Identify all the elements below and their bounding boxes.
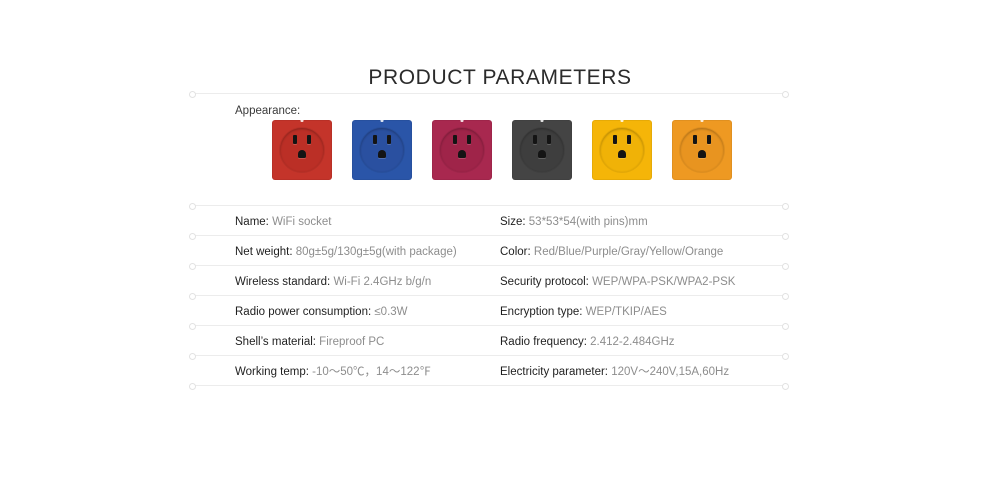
spec-row: Name: WiFi socketSize: 53*53*54(with pin…: [192, 205, 786, 235]
spec-row-divider: [192, 265, 786, 266]
spec-key: Wireless standard:: [235, 276, 330, 288]
spec-cell-right: Size: 53*53*54(with pins)mm: [500, 215, 648, 229]
socket-color-gallery: [272, 120, 732, 180]
socket-swatch-purple: [432, 120, 492, 180]
spec-value: WEP/TKIP/AES: [586, 306, 667, 318]
socket-swatch-blue: [352, 120, 412, 180]
socket-ground-hole: [298, 150, 306, 158]
spec-value: -10～50℃，14～122℉: [312, 366, 431, 378]
socket-slot-left: [533, 135, 537, 144]
socket-slot-left: [373, 135, 377, 144]
spec-row: Shell’s material: Fireproof PCRadio freq…: [192, 325, 786, 355]
spec-value: WiFi socket: [272, 216, 331, 228]
spec-value: 53*53*54(with pins)mm: [529, 216, 648, 228]
spec-value: ≤0.3W: [374, 306, 407, 318]
socket-slot-left: [293, 135, 297, 144]
socket-ground-hole: [618, 150, 626, 158]
spec-cell-left: Working temp: -10～50℃，14～122℉: [235, 365, 431, 379]
spec-value: 2.412-2.484GHz: [590, 336, 674, 348]
spec-row-divider: [192, 205, 786, 206]
socket-slot-right: [627, 135, 631, 144]
spec-row-divider: [192, 325, 786, 326]
socket-slot-right: [547, 135, 551, 144]
led-indicator-icon: [701, 118, 704, 122]
spec-key: Radio frequency:: [500, 336, 587, 348]
spec-cell-right: Encryption type: WEP/TKIP/AES: [500, 305, 667, 319]
socket-ground-hole: [538, 150, 546, 158]
socket-slot-right: [467, 135, 471, 144]
led-indicator-icon: [381, 118, 384, 122]
specifications-table: Name: WiFi socketSize: 53*53*54(with pin…: [192, 205, 786, 385]
spec-key: Shell’s material:: [235, 336, 316, 348]
spec-row-divider: [192, 235, 786, 236]
spec-value: 80g±5g/130g±5g(with package): [296, 246, 457, 258]
spec-cell-right: Security protocol: WEP/WPA-PSK/WPA2-PSK: [500, 275, 735, 289]
spec-cell-left: Shell’s material: Fireproof PC: [235, 335, 384, 349]
spec-value: 120V～240V,15A,60Hz: [611, 366, 729, 378]
spec-value: Wi-Fi 2.4GHz b/g/n: [333, 276, 431, 288]
spec-value: Fireproof PC: [319, 336, 384, 348]
socket-swatch-gray: [512, 120, 572, 180]
spec-row-divider: [192, 295, 786, 296]
spec-cell-left: Net weight: 80g±5g/130g±5g(with package): [235, 245, 457, 259]
spec-key: Name:: [235, 216, 269, 228]
spec-row: Wireless standard: Wi-Fi 2.4GHz b/g/nSec…: [192, 265, 786, 295]
spec-key: Encryption type:: [500, 306, 582, 318]
spec-table-bottom-divider: [192, 385, 786, 386]
spec-row: Radio power consumption: ≤0.3WEncryption…: [192, 295, 786, 325]
product-parameters-page: PRODUCT PARAMETERS Appearance: Name: WiF…: [0, 0, 1000, 494]
title-divider: [192, 93, 786, 94]
socket-swatch-red: [272, 120, 332, 180]
spec-row-divider: [192, 355, 786, 356]
spec-cell-right: Radio frequency: 2.412-2.484GHz: [500, 335, 675, 349]
socket-ground-hole: [458, 150, 466, 158]
socket-slot-left: [453, 135, 457, 144]
socket-slot-left: [613, 135, 617, 144]
spec-cell-right: Electricity parameter: 120V～240V,15A,60H…: [500, 365, 729, 379]
spec-key: Working temp:: [235, 366, 309, 378]
spec-key: Electricity parameter:: [500, 366, 608, 378]
led-indicator-icon: [461, 118, 464, 122]
socket-swatch-orange: [672, 120, 732, 180]
spec-key: Radio power consumption:: [235, 306, 371, 318]
spec-row: Net weight: 80g±5g/130g±5g(with package)…: [192, 235, 786, 265]
appearance-label: Appearance:: [235, 105, 300, 117]
socket-slot-right: [387, 135, 391, 144]
spec-cell-left: Name: WiFi socket: [235, 215, 332, 229]
spec-row: Working temp: -10～50℃，14～122℉Electricity…: [192, 355, 786, 385]
spec-key: Security protocol:: [500, 276, 589, 288]
socket-slot-left: [693, 135, 697, 144]
socket-swatch-yellow: [592, 120, 652, 180]
socket-ground-hole: [378, 150, 386, 158]
spec-cell-right: Color: Red/Blue/Purple/Gray/Yellow/Orang…: [500, 245, 723, 259]
spec-cell-left: Radio power consumption: ≤0.3W: [235, 305, 408, 319]
spec-key: Color:: [500, 246, 531, 258]
socket-slot-right: [707, 135, 711, 144]
socket-slot-right: [307, 135, 311, 144]
led-indicator-icon: [301, 118, 304, 122]
spec-key: Net weight:: [235, 246, 293, 258]
page-title: PRODUCT PARAMETERS: [0, 66, 1000, 90]
spec-key: Size:: [500, 216, 526, 228]
spec-value: WEP/WPA-PSK/WPA2-PSK: [592, 276, 735, 288]
led-indicator-icon: [541, 118, 544, 122]
spec-value: Red/Blue/Purple/Gray/Yellow/Orange: [534, 246, 723, 258]
socket-ground-hole: [698, 150, 706, 158]
spec-cell-left: Wireless standard: Wi-Fi 2.4GHz b/g/n: [235, 275, 431, 289]
led-indicator-icon: [621, 118, 624, 122]
